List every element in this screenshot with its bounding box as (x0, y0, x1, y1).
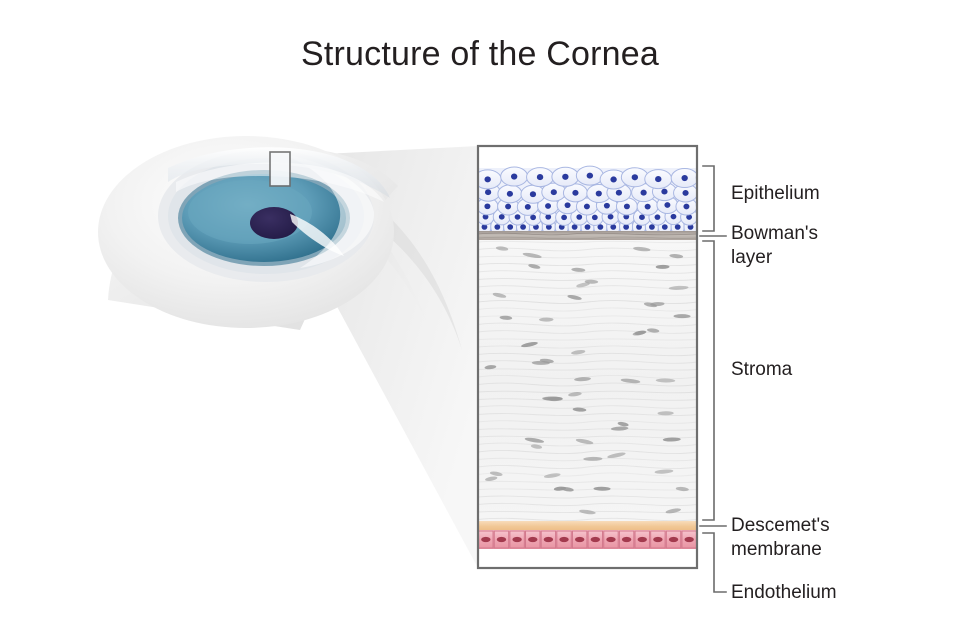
iris-inner-shade (188, 180, 312, 244)
epithelial-cell-nucleus (616, 190, 622, 196)
epithelial-cell-nucleus (507, 191, 513, 197)
epithelial-cell-nucleus (511, 174, 517, 180)
epithelial-cell-nucleus (484, 203, 490, 209)
cornea-structure-figure: Structure of the Cornea (0, 0, 960, 624)
endothelial-cell-nucleus (669, 537, 678, 542)
bracket-stroma (703, 241, 714, 520)
epithelial-cell-nucleus (624, 204, 630, 210)
epithelial-cell-nucleus (484, 176, 490, 182)
pupil (250, 207, 298, 239)
endothelial-cell-nucleus (481, 537, 490, 542)
epithelial-cell-nucleus (704, 202, 710, 208)
label-descemets: Descemet's membrane (731, 514, 830, 562)
epithelial-cell-nucleus (530, 191, 536, 197)
epithelial-cell (697, 219, 710, 236)
epithelial-cell-nucleus (545, 214, 551, 220)
label-epithelium: Epithelium (731, 182, 820, 206)
epithelial-cell-nucleus (561, 215, 567, 221)
epithelial-cell-nucleus (499, 214, 505, 220)
epithelial-cell-nucleus (639, 214, 645, 220)
epithelial-cell-nucleus (610, 176, 616, 182)
epithelial-cell-nucleus (702, 214, 708, 220)
layer-endothelium (478, 530, 697, 549)
epithelial-cell-nucleus (485, 189, 491, 195)
bracket-endothelium (703, 533, 726, 592)
label-bowmans: Bowman's layer (731, 222, 818, 270)
epithelial-cell-nucleus (683, 204, 689, 210)
epithelial-cell-nucleus (576, 214, 582, 220)
layer-stroma (478, 240, 697, 522)
epithelial-cell (696, 168, 723, 187)
epithelial-cell-nucleus (494, 224, 500, 230)
epithelial-cell-nucleus (584, 204, 590, 210)
epithelial-cell-nucleus (641, 190, 647, 196)
epithelial-cell-nucleus (701, 224, 707, 230)
epithelial-cell-nucleus (706, 174, 712, 180)
epithelial-cell-nucleus (592, 215, 598, 221)
endothelial-cell-nucleus (512, 537, 521, 542)
layer-bowmans (478, 231, 697, 240)
epithelial-cell-nucleus (585, 224, 591, 230)
epithelial-cell-nucleus (681, 175, 687, 181)
cornea-cross-section (474, 146, 723, 568)
epithelial-cell-nucleus (675, 224, 681, 230)
epithelial-cell-nucleus (705, 190, 711, 196)
epithelial-cell-nucleus (645, 204, 651, 210)
endothelial-cell-nucleus (497, 537, 506, 542)
epithelial-cell-nucleus (505, 204, 511, 210)
epithelial-cell-nucleus (596, 191, 602, 197)
epithelial-cell-nucleus (545, 203, 551, 209)
endothelial-cell-nucleus (528, 537, 537, 542)
epithelial-cell-nucleus (515, 214, 521, 220)
epithelial-cell-nucleus (608, 214, 614, 220)
bracket-epithelium (703, 166, 714, 231)
cornea-sample-marker[interactable] (270, 152, 290, 186)
epithelial-cell (697, 184, 721, 202)
layer-epithelium (474, 166, 723, 235)
epithelial-cell-nucleus (562, 174, 568, 180)
epithelial-cell-nucleus (604, 203, 610, 209)
endothelial-cell-nucleus (622, 537, 631, 542)
label-leaders (700, 166, 726, 592)
epithelial-cell-nucleus (682, 190, 688, 196)
endothelial-cell-nucleus (638, 537, 647, 542)
endothelial-cell-nucleus (653, 537, 662, 542)
epithelial-cell-nucleus (664, 202, 670, 208)
epithelial-cell-nucleus (537, 174, 543, 180)
layer-descemets (478, 521, 697, 531)
epithelial-cell-nucleus (671, 214, 677, 220)
epithelial-cell-nucleus (662, 224, 668, 230)
endothelial-cell-nucleus (606, 537, 615, 542)
epithelial-cell-nucleus (587, 173, 593, 179)
endothelial-cell-nucleus (684, 537, 693, 542)
label-stroma: Stroma (731, 358, 792, 382)
endothelial-cell-nucleus (575, 537, 584, 542)
epithelial-cell-nucleus (632, 174, 638, 180)
label-endothelium: Endothelium (731, 581, 837, 605)
epithelial-cell-nucleus (520, 224, 526, 230)
endothelial-cell-nucleus (559, 537, 568, 542)
epithelial-cell-nucleus (661, 189, 667, 195)
epithelium-cell-row (474, 166, 723, 235)
epithelial-cell-nucleus (655, 214, 661, 220)
epithelial-cell-nucleus (655, 176, 661, 182)
epithelial-cell-nucleus (525, 204, 531, 210)
epithelial-cell (696, 209, 713, 225)
epithelial-cell-nucleus (551, 189, 557, 195)
epithelial-cell-nucleus (565, 202, 571, 208)
endothelial-cell-nucleus (591, 537, 600, 542)
epithelial-cell-nucleus (507, 224, 513, 230)
epithelial-cell-nucleus (572, 190, 578, 196)
endothelial-cell-nucleus (544, 537, 553, 542)
epithelial-cell-nucleus (649, 224, 655, 230)
